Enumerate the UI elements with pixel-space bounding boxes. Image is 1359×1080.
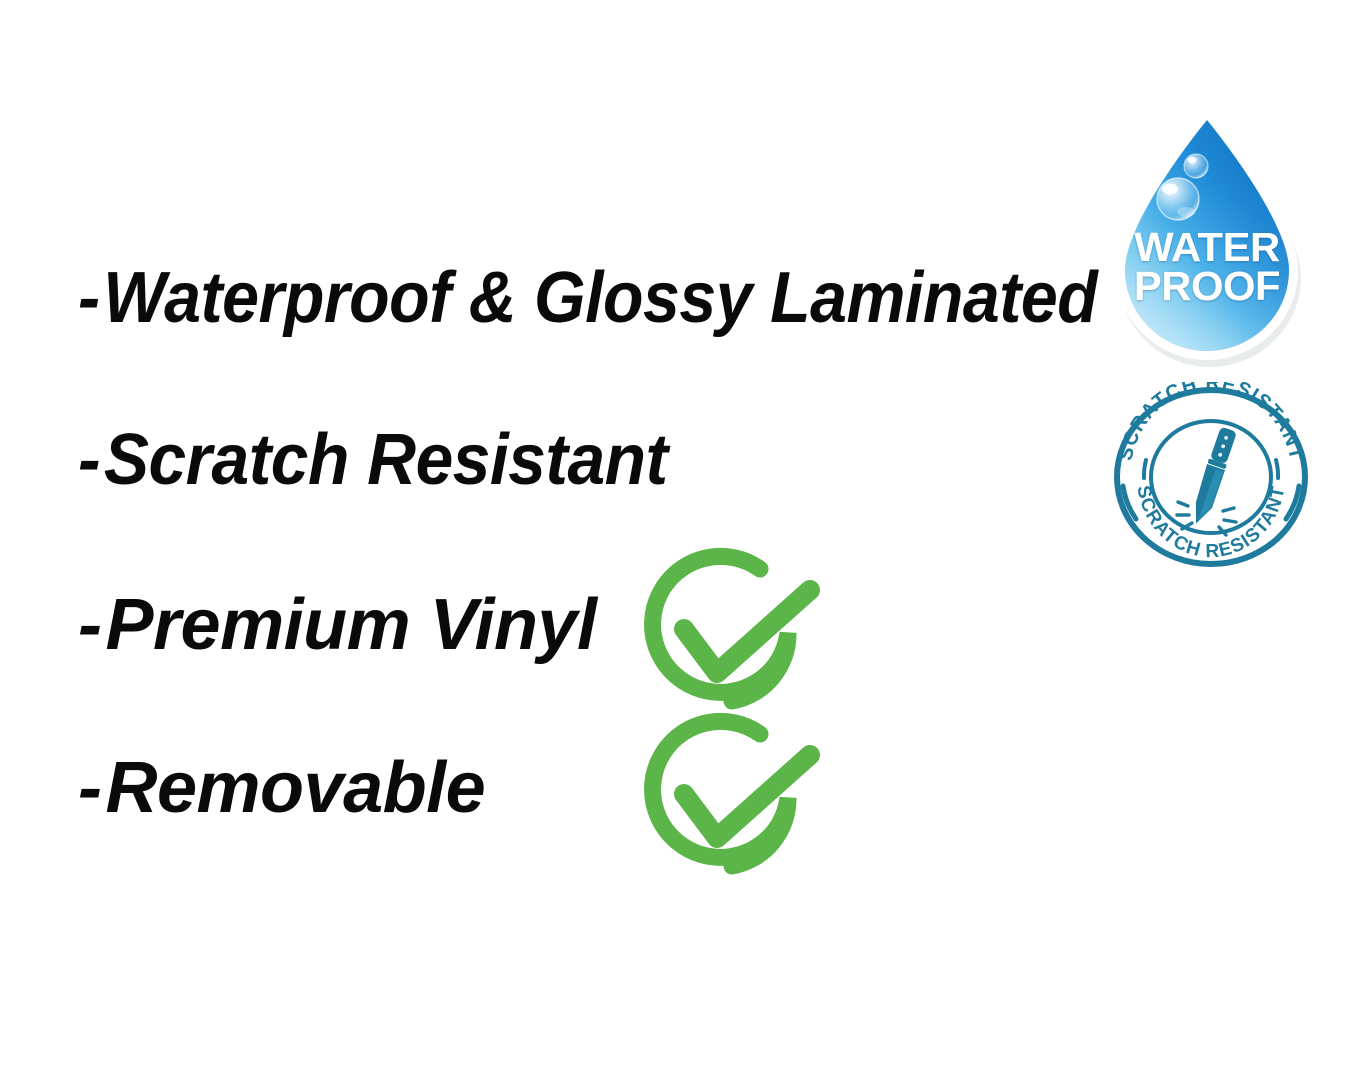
check-circle-icon	[632, 545, 832, 725]
water-bubble-small-highlight	[1188, 157, 1197, 163]
check-circle-icon	[632, 710, 832, 890]
feature-item-removable: -Removable	[78, 752, 485, 824]
feature-list-graphic: -Waterproof & Glossy Laminated -Scratch …	[0, 0, 1359, 1080]
stamp-tick-right	[1276, 460, 1278, 478]
feature-item-waterproof: -Waterproof & Glossy Laminated	[78, 262, 1097, 334]
water-bubble-large-highlight	[1162, 184, 1178, 195]
feature-bullet: -	[78, 262, 100, 334]
feature-bullet: -	[78, 752, 101, 824]
feature-item-scratch-resistant: -Scratch Resistant	[78, 424, 668, 496]
knife-stamp-icon: SCRATCH RESISTANT SCRATCH RESISTANT	[1110, 382, 1312, 572]
stamp-tick-left	[1144, 460, 1146, 478]
water-bubble-large-lowlight	[1177, 207, 1195, 217]
feature-bullet: -	[78, 424, 100, 496]
water-drop-icon	[1100, 104, 1314, 370]
feature-label: Scratch Resistant	[104, 420, 668, 500]
waterproof-badge: WATER PROOF	[1100, 104, 1314, 370]
checkmark-removable	[632, 710, 832, 890]
feature-label: Premium Vinyl	[105, 585, 596, 665]
drop-gloss	[1125, 120, 1289, 351]
feature-item-premium-vinyl: -Premium Vinyl	[78, 589, 596, 661]
feature-label: Waterproof & Glossy Laminated	[103, 258, 1097, 338]
scratch-resistant-badge: SCRATCH RESISTANT SCRATCH RESISTANT	[1110, 382, 1312, 572]
feature-bullet: -	[78, 589, 101, 661]
water-bubble-small-icon	[1184, 154, 1208, 178]
checkmark-premium-vinyl	[632, 545, 832, 725]
feature-label: Removable	[105, 748, 485, 828]
knife-icon	[1187, 426, 1238, 527]
